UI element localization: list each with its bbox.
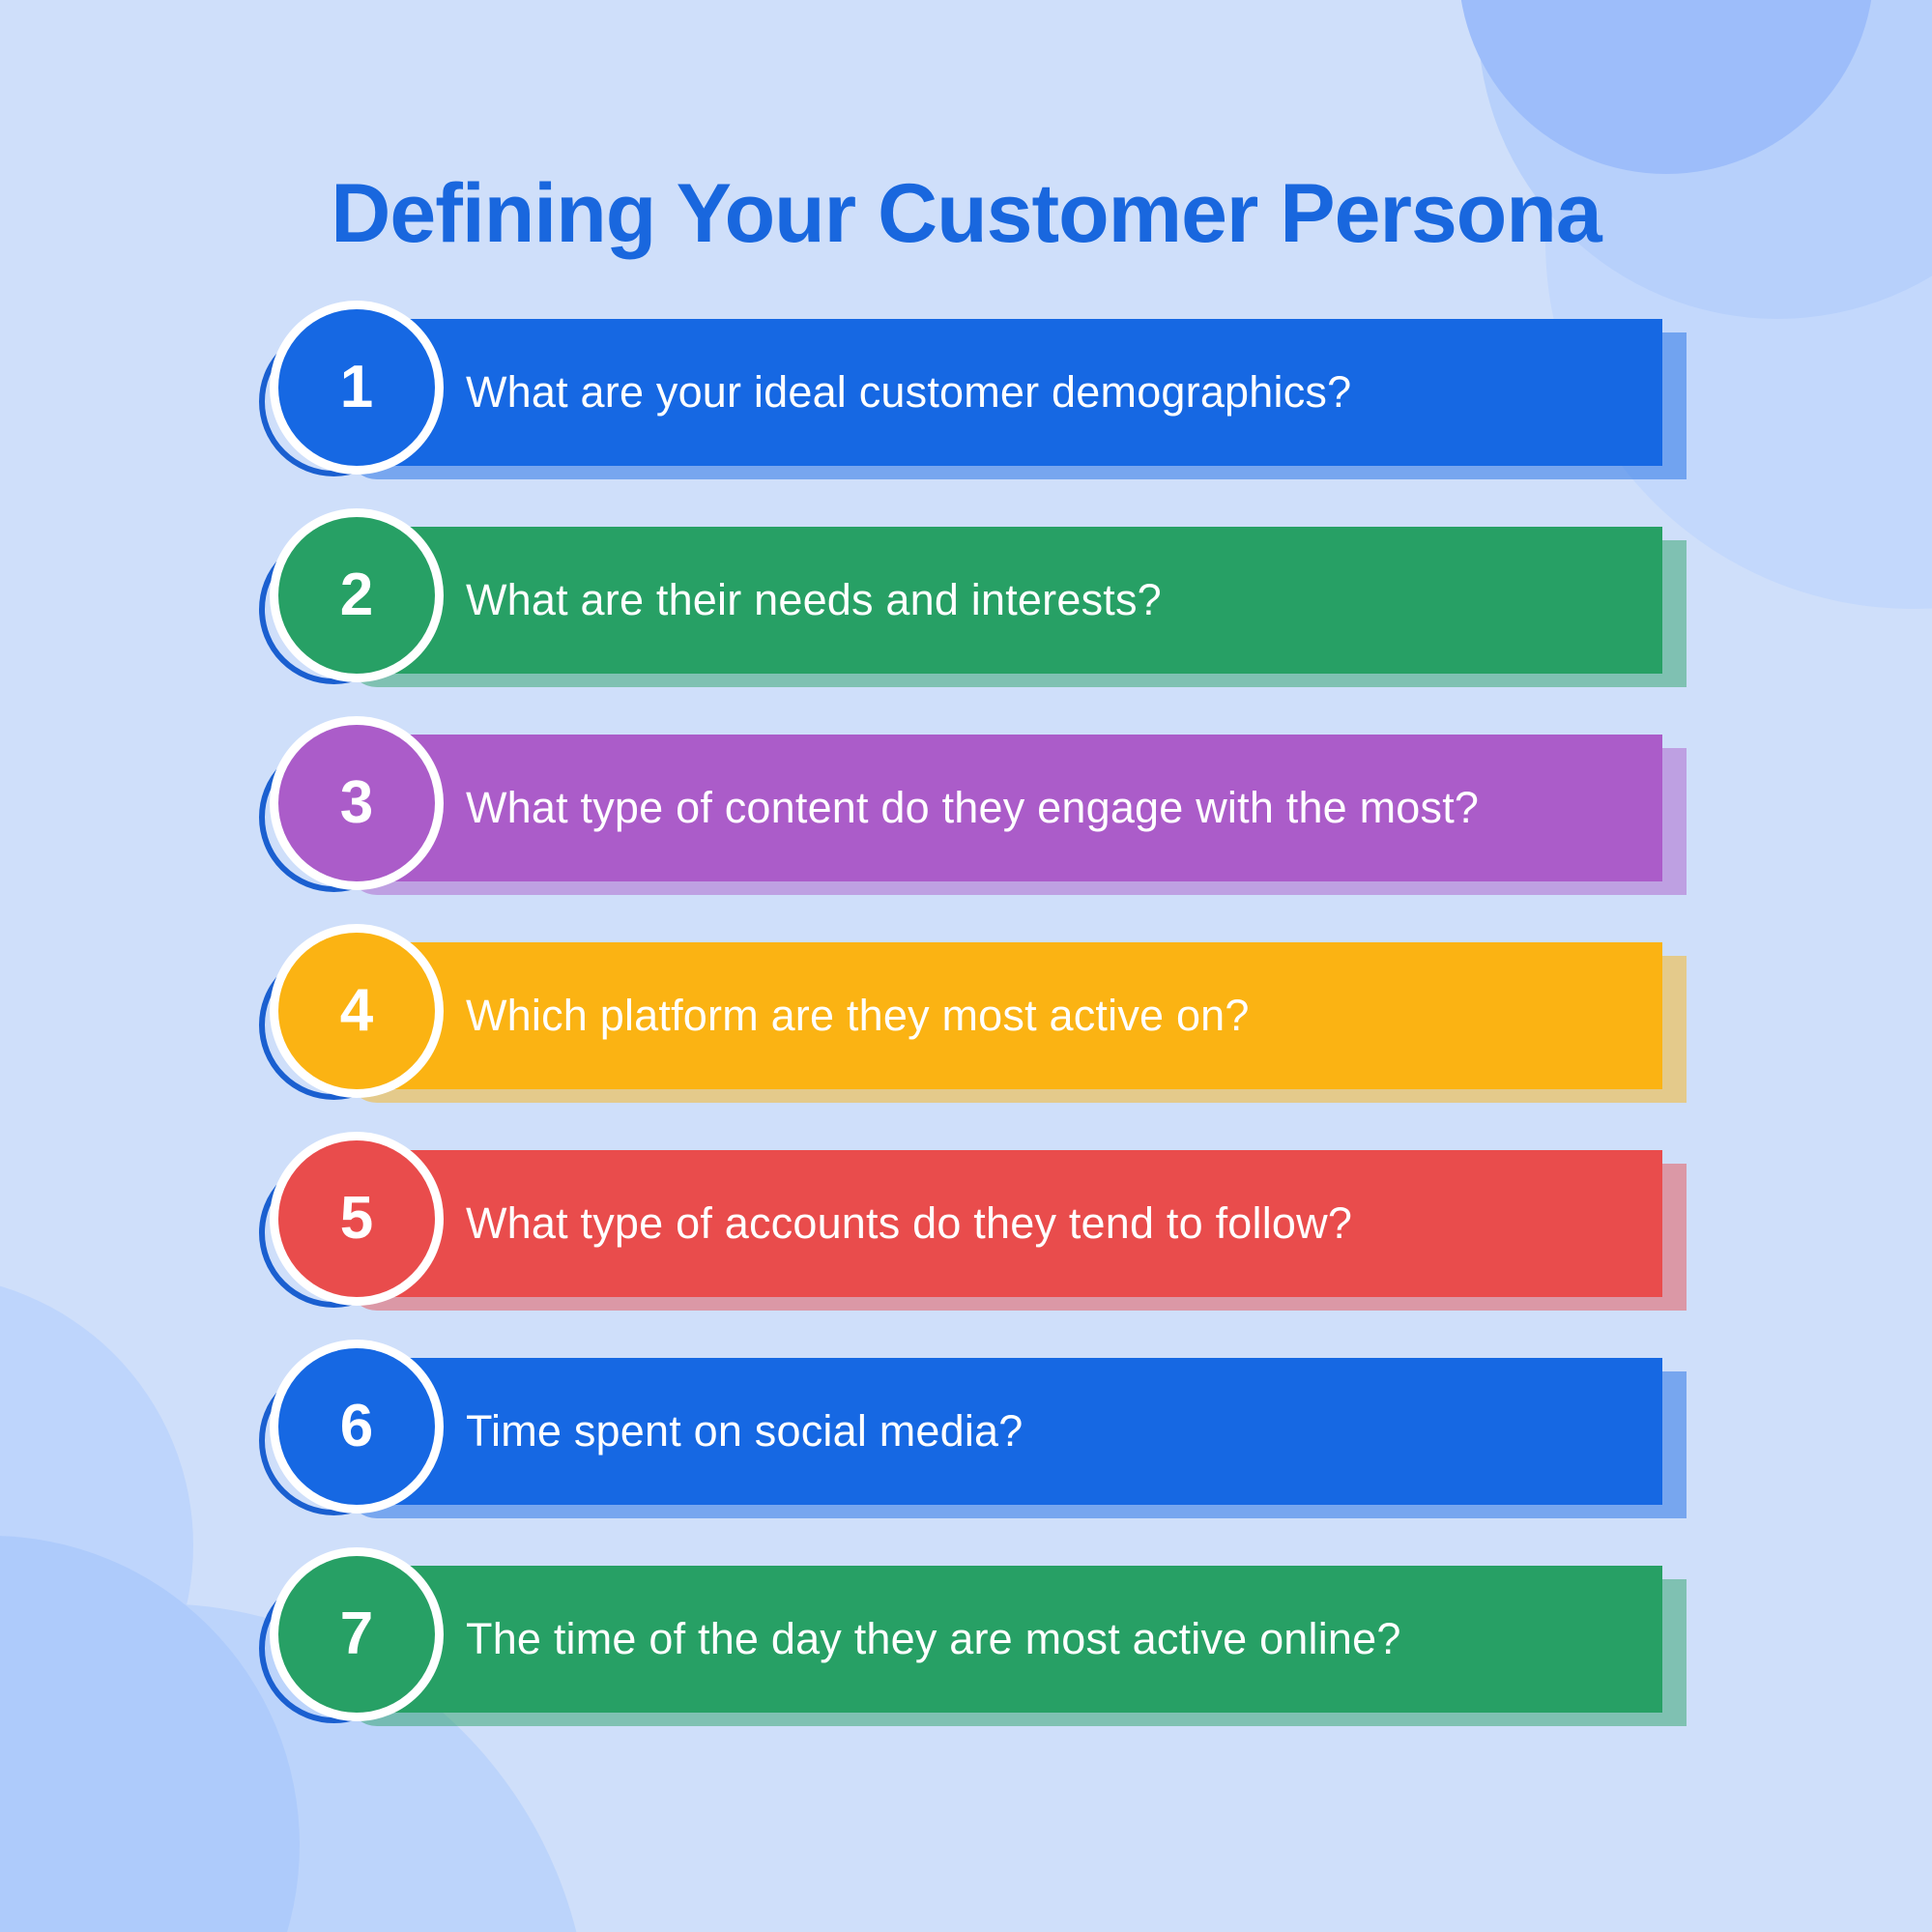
question-bar[interactable]: Which platform are they most active on? bbox=[340, 942, 1662, 1089]
step-number: 7 bbox=[340, 1604, 373, 1664]
list-item[interactable]: What are your ideal customer demographic… bbox=[0, 319, 1932, 527]
list-item[interactable]: What type of content do they engage with… bbox=[0, 735, 1932, 942]
step-number-badge[interactable]: 5 bbox=[278, 1140, 435, 1297]
question-label: Which platform are they most active on? bbox=[340, 991, 1250, 1041]
list-item[interactable]: What are their needs and interests?2 bbox=[0, 527, 1932, 735]
step-number: 4 bbox=[340, 981, 373, 1041]
step-number: 6 bbox=[340, 1397, 373, 1456]
list-item[interactable]: Which platform are they most active on?4 bbox=[0, 942, 1932, 1150]
list-item[interactable]: Time spent on social media?6 bbox=[0, 1358, 1932, 1566]
question-list: What are your ideal customer demographic… bbox=[0, 319, 1932, 1773]
step-number: 1 bbox=[340, 358, 373, 418]
question-bar[interactable]: What are your ideal customer demographic… bbox=[340, 319, 1662, 466]
question-label: What are your ideal customer demographic… bbox=[340, 367, 1351, 418]
list-item[interactable]: The time of the day they are most active… bbox=[0, 1566, 1932, 1773]
question-bar[interactable]: Time spent on social media? bbox=[340, 1358, 1662, 1505]
title-container: Defining Your Customer Persona bbox=[0, 116, 1932, 310]
step-number-badge[interactable]: 3 bbox=[278, 725, 435, 881]
question-bar[interactable]: What type of accounts do they tend to fo… bbox=[340, 1150, 1662, 1297]
question-bar[interactable]: What are their needs and interests? bbox=[340, 527, 1662, 674]
step-number-badge[interactable]: 2 bbox=[278, 517, 435, 674]
step-number: 2 bbox=[340, 565, 373, 625]
step-number-badge[interactable]: 4 bbox=[278, 933, 435, 1089]
infographic-poster: Defining Your Customer Persona What are … bbox=[0, 0, 1932, 1932]
question-label: What type of content do they engage with… bbox=[340, 783, 1479, 833]
question-label: Time spent on social media? bbox=[340, 1406, 1024, 1456]
step-number: 5 bbox=[340, 1189, 373, 1249]
question-label: The time of the day they are most active… bbox=[340, 1614, 1401, 1664]
step-number-badge[interactable]: 6 bbox=[278, 1348, 435, 1505]
page-title: Defining Your Customer Persona bbox=[331, 172, 1600, 255]
step-number-badge[interactable]: 7 bbox=[278, 1556, 435, 1713]
question-label: What are their needs and interests? bbox=[340, 575, 1162, 625]
question-label: What type of accounts do they tend to fo… bbox=[340, 1198, 1352, 1249]
list-item[interactable]: What type of accounts do they tend to fo… bbox=[0, 1150, 1932, 1358]
step-number: 3 bbox=[340, 773, 373, 833]
step-number-badge[interactable]: 1 bbox=[278, 309, 435, 466]
question-bar[interactable]: The time of the day they are most active… bbox=[340, 1566, 1662, 1713]
question-bar[interactable]: What type of content do they engage with… bbox=[340, 735, 1662, 881]
